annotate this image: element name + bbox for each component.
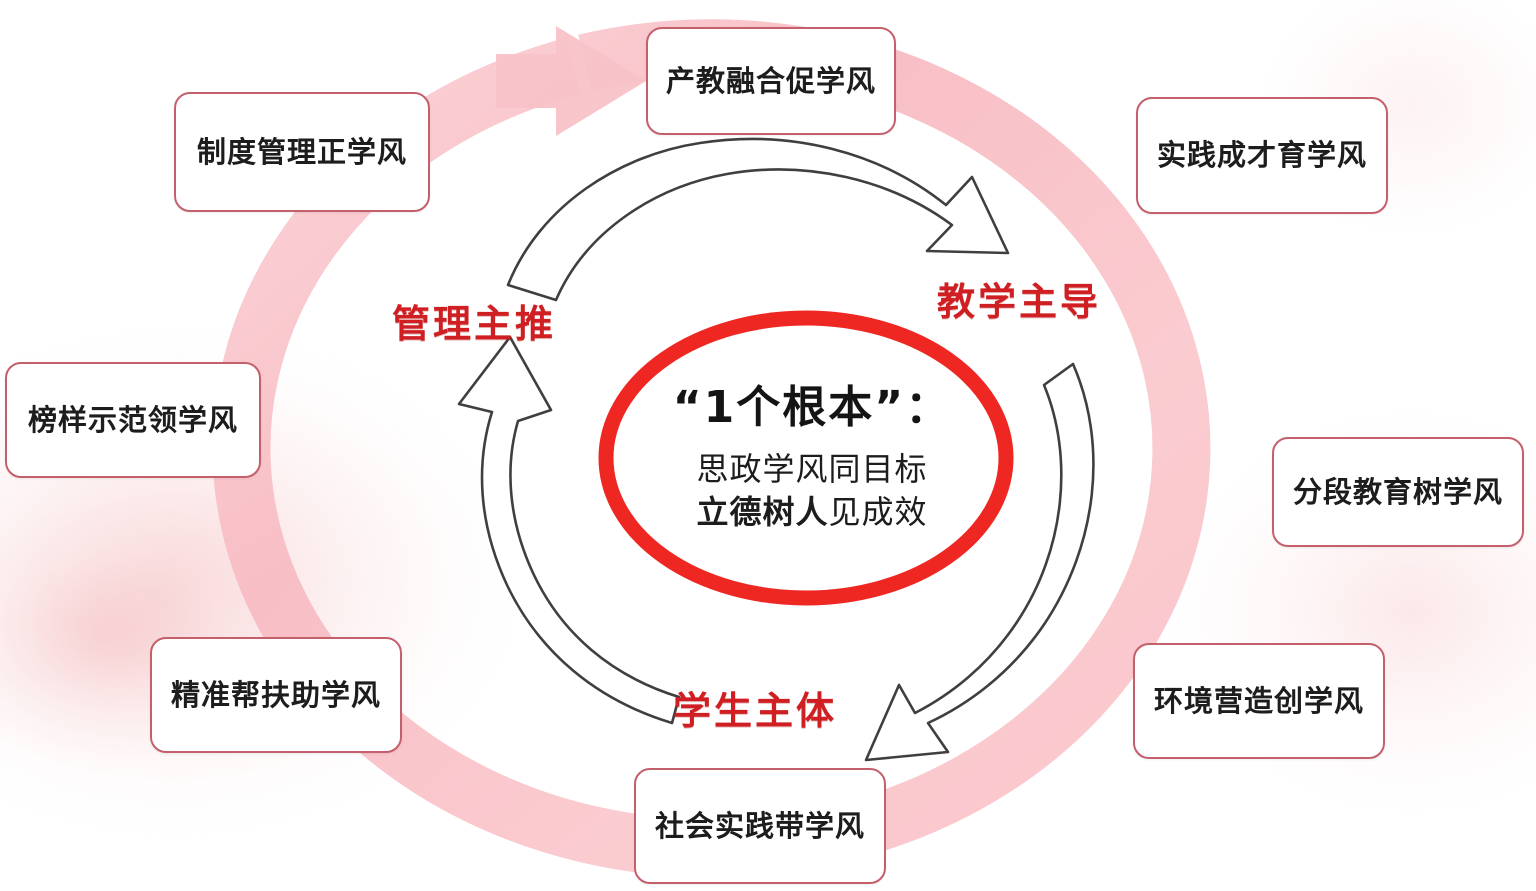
core-line-1-text: 思政学风同目标 <box>696 450 927 488</box>
node-role-model[interactable]: 榜样示范领学风 <box>5 362 261 478</box>
core-line-2: 立德树人见成效 <box>696 491 927 534</box>
core-line-2-text: 见成效 <box>829 493 928 531</box>
node-environment[interactable]: 环境营造创学风 <box>1133 643 1385 759</box>
node-label: 社会实践带学风 <box>655 812 865 841</box>
core-title: “1个根本”： <box>673 386 951 430</box>
node-system-management[interactable]: 制度管理正学风 <box>174 92 430 212</box>
node-label: 榜样示范领学风 <box>28 406 238 435</box>
node-label: 实践成才育学风 <box>1157 141 1367 170</box>
node-industry-education[interactable]: 产教融合促学风 <box>646 27 896 135</box>
node-label: 制度管理正学风 <box>197 138 407 167</box>
core-text-block: “1个根本”： 思政学风同目标 立德树人见成效 <box>612 340 1012 580</box>
node-precise-assistance[interactable]: 精准帮扶助学风 <box>150 637 402 753</box>
phase-label-management: 管理主推 <box>392 305 556 343</box>
phase-label-student: 学生主体 <box>673 692 837 730</box>
node-label: 精准帮扶助学风 <box>171 681 381 710</box>
core-line-1: 思政学风同目标 <box>696 448 927 491</box>
node-staged-education[interactable]: 分段教育树学风 <box>1272 437 1524 547</box>
node-social-practice[interactable]: 社会实践带学风 <box>634 768 886 884</box>
diagram-canvas: “1个根本”： 思政学风同目标 立德树人见成效 管理主推 教学主导 学生主体 产… <box>0 0 1536 891</box>
node-practice-talent[interactable]: 实践成才育学风 <box>1136 97 1388 214</box>
node-label: 分段教育树学风 <box>1293 478 1503 507</box>
core-line-2-emphasis: 立德树人 <box>696 493 828 531</box>
phase-label-teaching: 教学主导 <box>937 283 1101 321</box>
node-label: 环境营造创学风 <box>1154 687 1364 716</box>
node-label: 产教融合促学风 <box>666 67 876 96</box>
